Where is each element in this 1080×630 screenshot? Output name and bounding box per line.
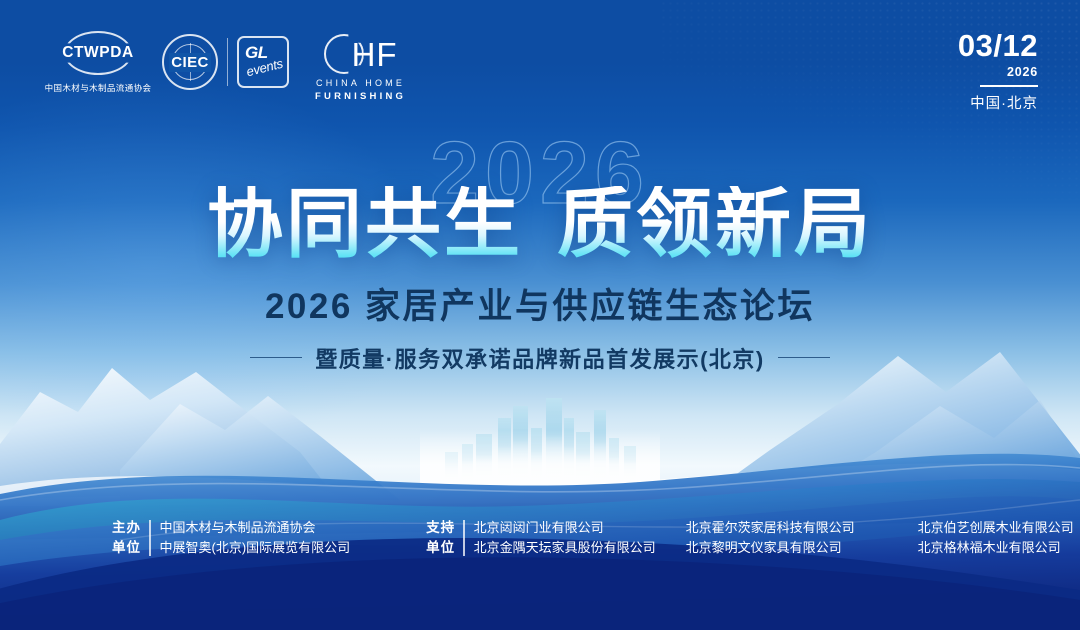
organizer-label: 主办 单位 [112,518,141,558]
logo-divider [227,38,228,86]
chf-logo: HF CHINA HOME FURNISHING [315,30,406,102]
header: CTWPDA 中国木材与木制品流通协会 CIEC GL events [0,0,1080,118]
organizer-item: 中展智奥(北京)国际展览有限公司 [160,538,351,558]
gl-events-logo: GL events [237,36,289,88]
supporter-item: 北京金隅天坛家具股份有限公司 [474,538,650,558]
main-title-right: 质领新局 [557,182,873,267]
organizer-row: 中国木材与木制品流通协会 [160,518,351,538]
supporter-list: 北京闼闼门业有限公司 北京霍尔茨家居科技有限公司 北京伯艺创展木业有限公司 北京… [474,518,1074,558]
event-date-block: 03/12 2026 中国·北京 [958,30,1038,113]
city-skyline [445,398,636,480]
supporter-row: 北京闼闼门业有限公司 北京霍尔茨家居科技有限公司 北京伯艺创展木业有限公司 [474,518,1074,538]
organizer-item: 中国木材与木制品流通协会 [160,518,316,538]
organizer-row: 中展智奥(北京)国际展览有限公司 [160,538,351,558]
supporter-label-line2: 单位 [426,538,455,558]
ctwpda-mark-icon: CTWPDA [55,30,141,76]
supporter-item: 北京黎明文仪家具有限公司 [686,538,882,558]
tagline: 暨质量·服务双承诺品牌新品首发展示(北京) [315,342,764,374]
poster-root: 2026 [0,0,1080,630]
globe-icon: CIEC [162,34,218,90]
event-city: 中国·北京 [958,92,1038,113]
date-rule [980,85,1038,87]
supporter-row: 北京金隅天坛家具股份有限公司 北京黎明文仪家具有限公司 北京格林福木业有限公司 [474,538,1074,558]
organizer-bar [149,520,151,556]
supporter-bar [463,520,465,556]
ctwpda-abbr: CTWPDA [62,44,134,62]
ciec-abbr: CIEC [169,53,210,72]
main-title-left: 协同共生 [207,182,523,267]
event-date: 03/12 [958,30,1038,61]
organizer-label-line1: 主办 [112,518,141,538]
main-title: 协同共生质领新局 [0,186,1080,264]
supporter-item: 北京伯艺创展木业有限公司 [918,518,1074,538]
subtitle: 2026 家居产业与供应链生态论坛 [0,278,1080,329]
chf-line2: FURNISHING [315,91,406,102]
tagline-dash-left [250,357,302,359]
tagline-row: 暨质量·服务双承诺品牌新品首发展示(北京) [0,342,1080,374]
ctwpda-logo: CTWPDA 中国木材与木制品流通协会 [48,30,148,94]
organizer-group: 主办 单位 中国木材与木制品流通协会 中展智奥(北京)国际展览有限公司 [112,518,350,558]
supporter-item: 北京格林福木业有限公司 [918,538,1061,558]
supporter-item: 北京闼闼门业有限公司 [474,518,650,538]
organizer-label-line2: 单位 [112,538,141,558]
ciec-logo: CIEC [162,34,218,90]
ciec-gl-group: CIEC GL events [162,30,289,90]
chf-line1: CHINA HOME [316,78,405,88]
event-year: 2026 [958,65,1038,79]
logo-strip: CTWPDA 中国木材与木制品流通协会 CIEC GL events [48,30,406,102]
ctwpda-chinese-name: 中国木材与木制品流通协会 [45,82,152,94]
supporter-group: 支持 单位 北京闼闼门业有限公司 北京霍尔茨家居科技有限公司 北京伯艺创展木业有… [426,518,1074,558]
tagline-dash-right [778,357,830,359]
chf-mark-icon: HF [324,33,398,75]
title-block: 协同共生质领新局 2026 家居产业与供应链生态论坛 暨质量·服务双承诺品牌新品… [0,186,1080,374]
supporter-label-line1: 支持 [426,518,455,538]
supporter-item: 北京霍尔茨家居科技有限公司 [686,518,882,538]
supporter-label: 支持 单位 [426,518,455,558]
footer: 主办 单位 中国木材与木制品流通协会 中展智奥(北京)国际展览有限公司 支持 单… [0,518,1080,558]
organizer-list: 中国木材与木制品流通协会 中展智奥(北京)国际展览有限公司 [160,518,351,558]
